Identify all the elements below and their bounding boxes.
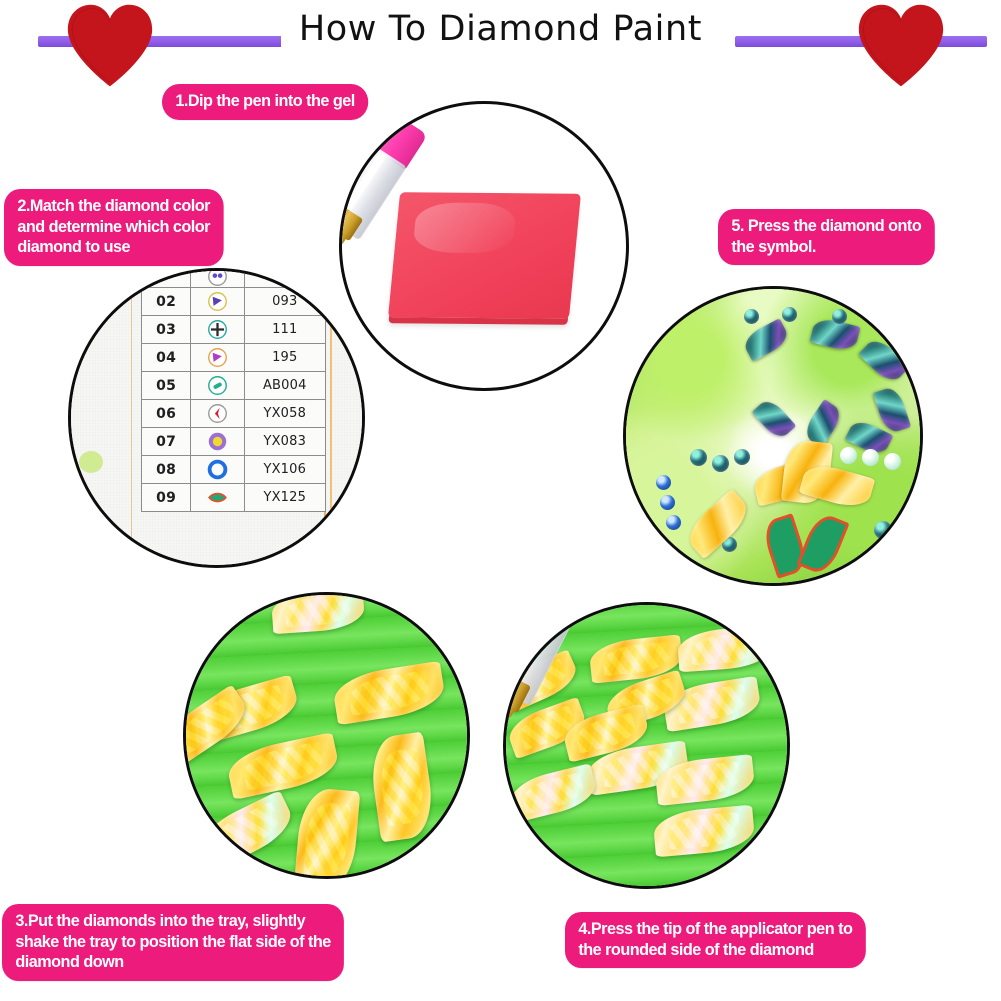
chart-cell-number: 04: [142, 344, 191, 372]
chart-cell-number: 07: [142, 428, 191, 456]
chart-cell-number: 06: [142, 400, 191, 428]
photo-color-chart: 02002093031110419505AB00406YX05807YX0830…: [68, 268, 365, 568]
gem-dot: [874, 521, 892, 539]
color-chart-body: 02002093031110419505AB00406YX05807YX0830…: [142, 268, 326, 512]
chart-cell-code: YX058: [244, 400, 325, 428]
page-title: How To Diamond Paint: [0, 9, 1001, 49]
photo-diamonds-in-tray: [183, 592, 470, 879]
color-chart-row: 02093: [142, 288, 326, 316]
chart-margin-line: [131, 271, 132, 565]
chart-cell-symbol: [191, 288, 244, 316]
gem-dot: [666, 515, 681, 530]
gem-dot: [744, 309, 759, 324]
chart-cell-symbol: [191, 372, 244, 400]
chart-cell-code: 111: [244, 316, 325, 344]
gel-pad: [388, 192, 581, 319]
chart-cell-number: [142, 268, 191, 288]
color-chart-row: 03111: [142, 316, 326, 344]
color-chart-row: 020: [142, 268, 326, 288]
chart-cell-code: YX125: [244, 484, 325, 512]
color-chart-row: 06YX058: [142, 400, 326, 428]
chart-cell-number: 09: [142, 484, 191, 512]
step-4-label: 4.Press the tip of the applicator pen to…: [565, 912, 866, 968]
chart-cell-code: YX083: [244, 428, 325, 456]
chart-cell-number: 03: [142, 316, 191, 344]
capsule-icon: [191, 372, 243, 399]
label-line: the symbol.: [731, 237, 921, 258]
chart-cell-symbol: [191, 484, 244, 512]
filled-circle-icon: [191, 428, 243, 455]
chart-cell-code: AB004: [244, 372, 325, 400]
gem-dot: [840, 447, 857, 464]
leaf-icon: [191, 484, 243, 511]
step-3-label: 3.Put the diamonds into the tray, slight…: [2, 904, 344, 981]
chart-cell-symbol: [191, 428, 244, 456]
gem-dot: [884, 453, 901, 470]
infographic-root: How To Diamond Paint 0200209303111041950…: [0, 0, 1001, 1001]
label-line: diamond down: [15, 952, 330, 973]
color-chart-row: 07YX083: [142, 428, 326, 456]
label-line: diamond to use: [17, 237, 210, 258]
gem-dot: [712, 455, 729, 472]
gem-dot: [862, 449, 879, 466]
color-chart-table: 02002093031110419505AB00406YX05807YX0830…: [141, 268, 326, 512]
chart-cell-symbol: [191, 456, 244, 484]
step-1-label: 1.Dip the pen into the gel: [162, 84, 368, 120]
step-5-label: 5. Press the diamond ontothe symbol.: [718, 209, 935, 265]
chart-cell-symbol: [191, 344, 244, 372]
chart-cell-code: YX106: [244, 456, 325, 484]
gem-dot: [690, 449, 707, 466]
photo-pen-into-gel: [339, 101, 629, 391]
header: How To Diamond Paint: [0, 0, 1001, 78]
color-chart-row: 05AB004: [142, 372, 326, 400]
chart-edge-line: [330, 271, 332, 565]
label-line: 5. Press the diamond onto: [731, 216, 921, 237]
label-line: shake the tray to position the flat side…: [15, 932, 330, 953]
gem-dot: [832, 309, 847, 324]
gem-dot: [656, 475, 671, 490]
plus-icon: [191, 316, 243, 343]
label-line: 4.Press the tip of the applicator pen to: [578, 919, 852, 940]
color-chart-row: 08YX106: [142, 456, 326, 484]
chart-cell-code: 195: [244, 344, 325, 372]
photo-pen-picking-diamond: [503, 602, 790, 889]
gem-dot: [734, 449, 750, 465]
gem-dot: [782, 307, 797, 322]
label-line: 3.Put the diamonds into the tray, slight…: [15, 911, 330, 932]
step-2-label: 2.Match the diamond colorand determine w…: [4, 189, 223, 266]
triangle-icon: [191, 344, 243, 371]
label-line: 1.Dip the pen into the gel: [175, 91, 354, 112]
ring-icon: [191, 456, 243, 483]
chart-cell-code: 020: [244, 268, 325, 288]
label-line: and determine which color: [17, 217, 210, 238]
gem-dot: [660, 495, 675, 510]
chart-cell-number: 05: [142, 372, 191, 400]
chart-cell-symbol: [191, 316, 244, 344]
chart-cell-symbol: [191, 400, 244, 428]
photo-press-onto-symbol: [623, 286, 923, 586]
triangle-icon: [191, 288, 243, 315]
chart-cell-number: 02: [142, 288, 191, 316]
chart-cell-symbol: [191, 268, 244, 288]
chart-cell-code: 093: [244, 288, 325, 316]
label-line: the rounded side of the diamond: [578, 940, 852, 961]
double-dot-icon: [191, 268, 243, 287]
color-chart-row: 09YX125: [142, 484, 326, 512]
color-chart-row: 04195: [142, 344, 326, 372]
chart-cell-number: 08: [142, 456, 191, 484]
chevron-left-icon: [191, 400, 243, 427]
label-line: 2.Match the diamond color: [17, 196, 210, 217]
chart-speck: [79, 451, 103, 473]
chart-speck: [83, 519, 109, 541]
